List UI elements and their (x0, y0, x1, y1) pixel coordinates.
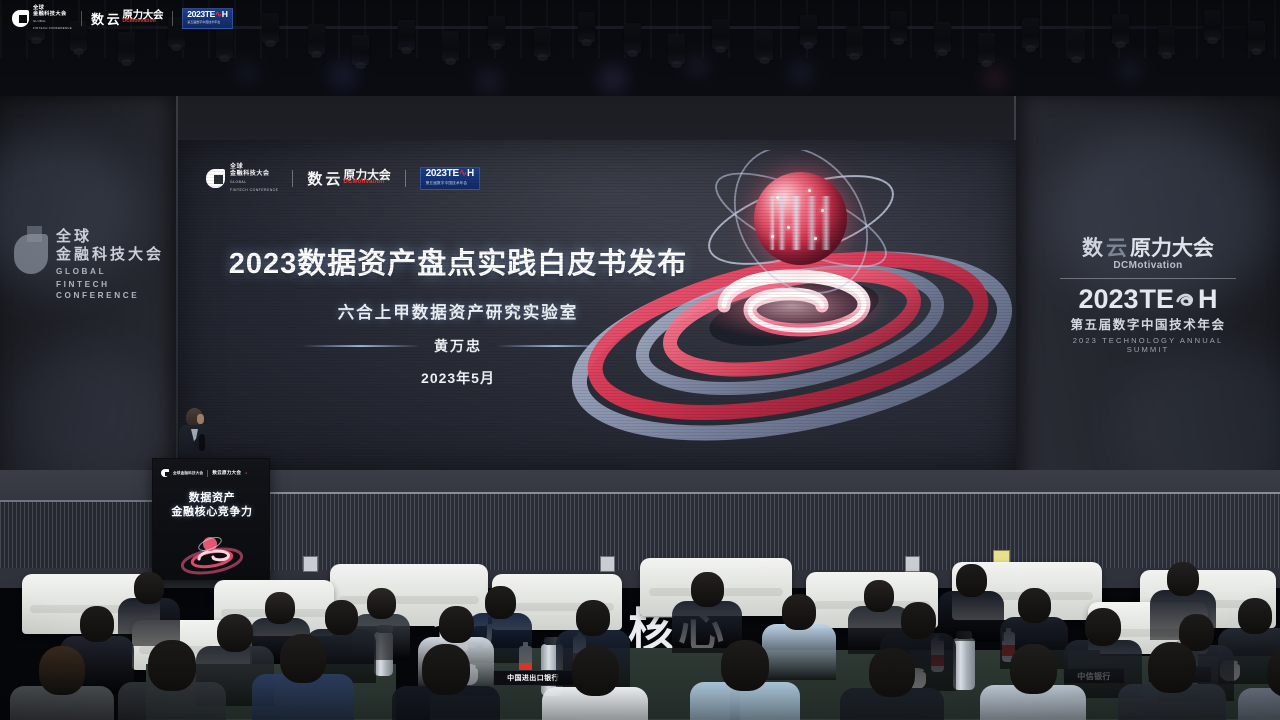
left-wall-cn-line2: 金融科技大会 (56, 246, 174, 264)
audience-head (721, 640, 769, 691)
ceiling-light-fixture (578, 12, 595, 42)
ceiling-light-fixture (846, 26, 863, 56)
screen-logo-divider-1 (292, 170, 293, 187)
audience-head (80, 606, 114, 642)
watermark-tech-logo: 2023TE∿H 第五届数字中国技术年会 (182, 8, 232, 29)
ceiling-light-fixture (668, 34, 685, 64)
audience-member (252, 634, 354, 720)
broadcast-watermark: 全球 金融科技大会 GLOBAL FINTECH CONFERENCE 数 云 … (12, 6, 233, 31)
ceiling-light-fixture (800, 15, 817, 45)
ceiling-light-fixture (352, 35, 369, 65)
gfc-logo-mark-podium (161, 469, 169, 477)
ceiling-light-fixture (1158, 25, 1175, 55)
light-glow (1120, 60, 1140, 80)
watermark-divider-2 (172, 11, 173, 26)
galaxy-graphic (556, 150, 1016, 470)
screen-gfc-en2: FINTECH CONFERENCE (230, 187, 278, 194)
audience-head (782, 594, 816, 630)
podium-title-line2: 金融核心竞争力 (153, 505, 271, 519)
right-wall-yuanli: 原力大会 (1130, 232, 1214, 262)
watermark-dcm-shu: 数 (91, 9, 104, 28)
screen-tech-logo: 2023TE∿H 第五届数字中国技术年会 (420, 167, 480, 190)
speaker-face (197, 414, 204, 424)
audience-head (422, 644, 470, 695)
ceiling-light-fixture (890, 11, 907, 41)
watermark-divider-1 (81, 11, 82, 26)
ceiling-light-fixture (262, 13, 279, 43)
left-wall-cn-line1: 全球 (56, 228, 174, 246)
swirl-glyph-icon: ∿ (459, 168, 467, 179)
light-glow (478, 70, 500, 92)
podium-title: 数据资产 金融核心竞争力 (153, 491, 271, 519)
ceiling-light-fixture (1068, 29, 1085, 59)
watermark-tech-sub: 第五届数字中国技术年会 (187, 19, 227, 26)
podium-logo-dcm: 数云原力大会 (212, 470, 241, 476)
audience-member (392, 644, 500, 720)
audience-head (134, 572, 164, 604)
screen-gfc-cn2: 金融科技大会 (230, 171, 278, 178)
screen-dcm-yun: 云 (325, 168, 340, 189)
audience-member (840, 648, 944, 720)
screen-dcm-shu: 数 (307, 168, 322, 189)
ceiling-light-fixture (398, 20, 415, 50)
ceiling-light-fixture (624, 23, 641, 53)
screen-tech-word: TE (447, 168, 459, 179)
screen-dcm-en: DCMotivation (343, 178, 390, 186)
screen-dcm-logo: 数 云 原力大会 DCMotivation (307, 168, 390, 189)
ceiling-light-fixture (1112, 14, 1129, 44)
audience-member (980, 644, 1086, 720)
audience-head (869, 648, 915, 697)
audience-head (956, 564, 987, 597)
ceiling-light-fixture (1248, 21, 1265, 51)
conference-scene: 全球 金融科技大会 GLOBAL FINTECH CONFERENCE 数 云 … (0, 0, 1280, 720)
swirl-glyph-icon-watermark: ∿ (215, 9, 222, 19)
light-glow (690, 58, 706, 74)
ceiling-light-fixture (308, 24, 325, 54)
audience-head (576, 600, 610, 636)
left-wall-branding: 全球 金融科技大会 GLOBAL FINTECH CONFERENCE (14, 224, 174, 301)
light-glow (600, 66, 626, 92)
right-wall-cn-sub: 第五届数字中国技术年会 (1056, 314, 1240, 333)
audience-head (1238, 598, 1272, 634)
audience-member (118, 640, 226, 720)
audience-head (1010, 644, 1057, 694)
right-wall-year: 2023 (1078, 285, 1138, 313)
light-glow (985, 68, 1005, 88)
ceiling-light-fixture (1204, 10, 1221, 40)
podium-logo-accent: ● (245, 471, 247, 475)
audience-body (1238, 688, 1280, 720)
podium-logo-divider (207, 470, 208, 477)
podium-title-line1: 数据资产 (153, 491, 271, 505)
audience-head (572, 646, 619, 696)
watermark-tech-word2: H (222, 9, 228, 19)
left-wall-en-line1: GLOBAL (56, 266, 174, 277)
watermark-gfc-en1: GLOBAL (33, 19, 72, 25)
ceiling-light-fixture (534, 27, 551, 57)
screen-logo-divider-2 (405, 170, 406, 187)
screen-gfc-en1: GLOBAL (230, 179, 278, 186)
watermark-gfc-logo: 全球 金融科技大会 GLOBAL FINTECH CONFERENCE (12, 6, 72, 31)
audience-head (1018, 588, 1051, 623)
light-glow (238, 64, 256, 82)
watermark-gfc-en2: FINTECH CONFERENCE (33, 26, 72, 32)
left-wall-en-line2: FINTECH CONFERENCE (56, 279, 174, 301)
screen-tech-word2: H (467, 168, 474, 179)
watermark-dcm-logo: 数 云 原力大会 DCMotivation (91, 9, 163, 28)
sphere-city-skyline (769, 196, 834, 250)
light-glow (790, 62, 812, 84)
audience-head (1148, 642, 1196, 693)
audience-member (1118, 642, 1226, 720)
audience-head (1167, 562, 1199, 596)
right-wall-tech-left: TE (1140, 285, 1175, 313)
podium-logo-cn: 全球金融科技大会 (173, 471, 203, 476)
audience-head (280, 634, 326, 683)
right-wall-divider (1060, 278, 1236, 279)
watermark-dcm-yun: 云 (107, 9, 120, 28)
right-wall-tech-right: H (1198, 285, 1218, 313)
ceiling-light-fixture (712, 19, 729, 49)
watermark-tech-year: 2023 (187, 9, 205, 19)
ceiling-light-fixture (442, 31, 459, 61)
screen-gfc-logo: 全球 金融科技大会 GLOBAL FINTECH CONFERENCE (206, 164, 278, 193)
podium-logo-bar: 全球金融科技大会 数云原力大会 ● (161, 469, 247, 477)
audience-head (691, 572, 724, 607)
audience-area: 中国进出口银行 中信银行 中信银行 (0, 528, 1280, 720)
audience-member (542, 646, 648, 720)
audience-head (1085, 608, 1121, 646)
watermark-gfc-cn2: 金融科技大会 (33, 12, 72, 18)
right-wall-yun: 云 (1106, 232, 1128, 262)
right-wall-shu: 数 (1082, 232, 1104, 262)
gfc-logo-mark-left (14, 226, 48, 282)
audience-head (148, 640, 196, 691)
presenter-name: 黄万忠 (434, 336, 482, 356)
light-glow (330, 62, 356, 88)
audience-head (439, 606, 474, 643)
screen-tech-year: 2023 (426, 168, 447, 179)
watermark-tech-word: TE (205, 9, 215, 19)
thermos (953, 638, 975, 690)
ceiling-light-fixture (1022, 18, 1039, 48)
ceiling-light-fixture (934, 22, 951, 52)
audience-member (690, 640, 800, 720)
ceiling-light-fixture (756, 30, 773, 60)
gfc-logo-mark-watermark (12, 10, 29, 27)
microphone-icon (199, 434, 205, 451)
gfc-logo-mark-screen (206, 169, 225, 188)
data-sphere (754, 172, 847, 265)
screen-tech-sub: 第五届数字中国技术年会 (426, 179, 474, 187)
rule-left (302, 345, 420, 347)
audience-member (1238, 648, 1280, 720)
swirl-icon (1175, 288, 1197, 310)
ceiling-light-fixture (118, 32, 135, 62)
audience-head (39, 646, 85, 695)
screen-logo-bar: 全球 金融科技大会 GLOBAL FINTECH CONFERENCE 数 云 … (206, 164, 480, 193)
audience-member (10, 646, 114, 720)
audience-head (325, 600, 358, 635)
led-stage-screen: 全球 金融科技大会 GLOBAL FINTECH CONFERENCE 数 云 … (178, 140, 1016, 472)
ceiling-light-fixture (978, 33, 995, 63)
ceiling-light-fixture (216, 28, 233, 58)
right-wall-en-sub: 2023 TECHNOLOGY ANNUAL SUMMIT (1056, 336, 1240, 354)
right-wall-branding: 数 云 原力大会 DCMotivation 2023 TE H 第五届数字中国技… (1056, 232, 1240, 354)
right-wall-tech-lockup: 2023 TE H (1056, 285, 1240, 313)
audience-head (901, 602, 936, 639)
ceiling-light-fixture (488, 16, 505, 46)
